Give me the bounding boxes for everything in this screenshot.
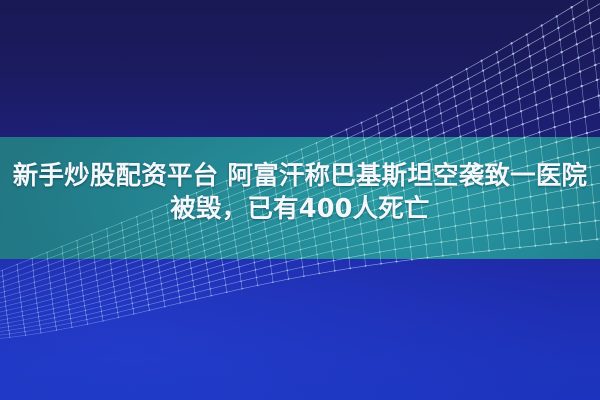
banner-image: 新手炒股配资平台 阿富汗称巴基斯坦空袭致一医院 被毁，已有400人死亡 (0, 0, 600, 400)
headline-line-1: 新手炒股配资平台 阿富汗称巴基斯坦空袭致一医院 (0, 160, 600, 193)
headline: 新手炒股配资平台 阿富汗称巴基斯坦空袭致一医院 被毁，已有400人死亡 (0, 160, 600, 226)
headline-line-2: 被毁，已有400人死亡 (0, 193, 600, 226)
